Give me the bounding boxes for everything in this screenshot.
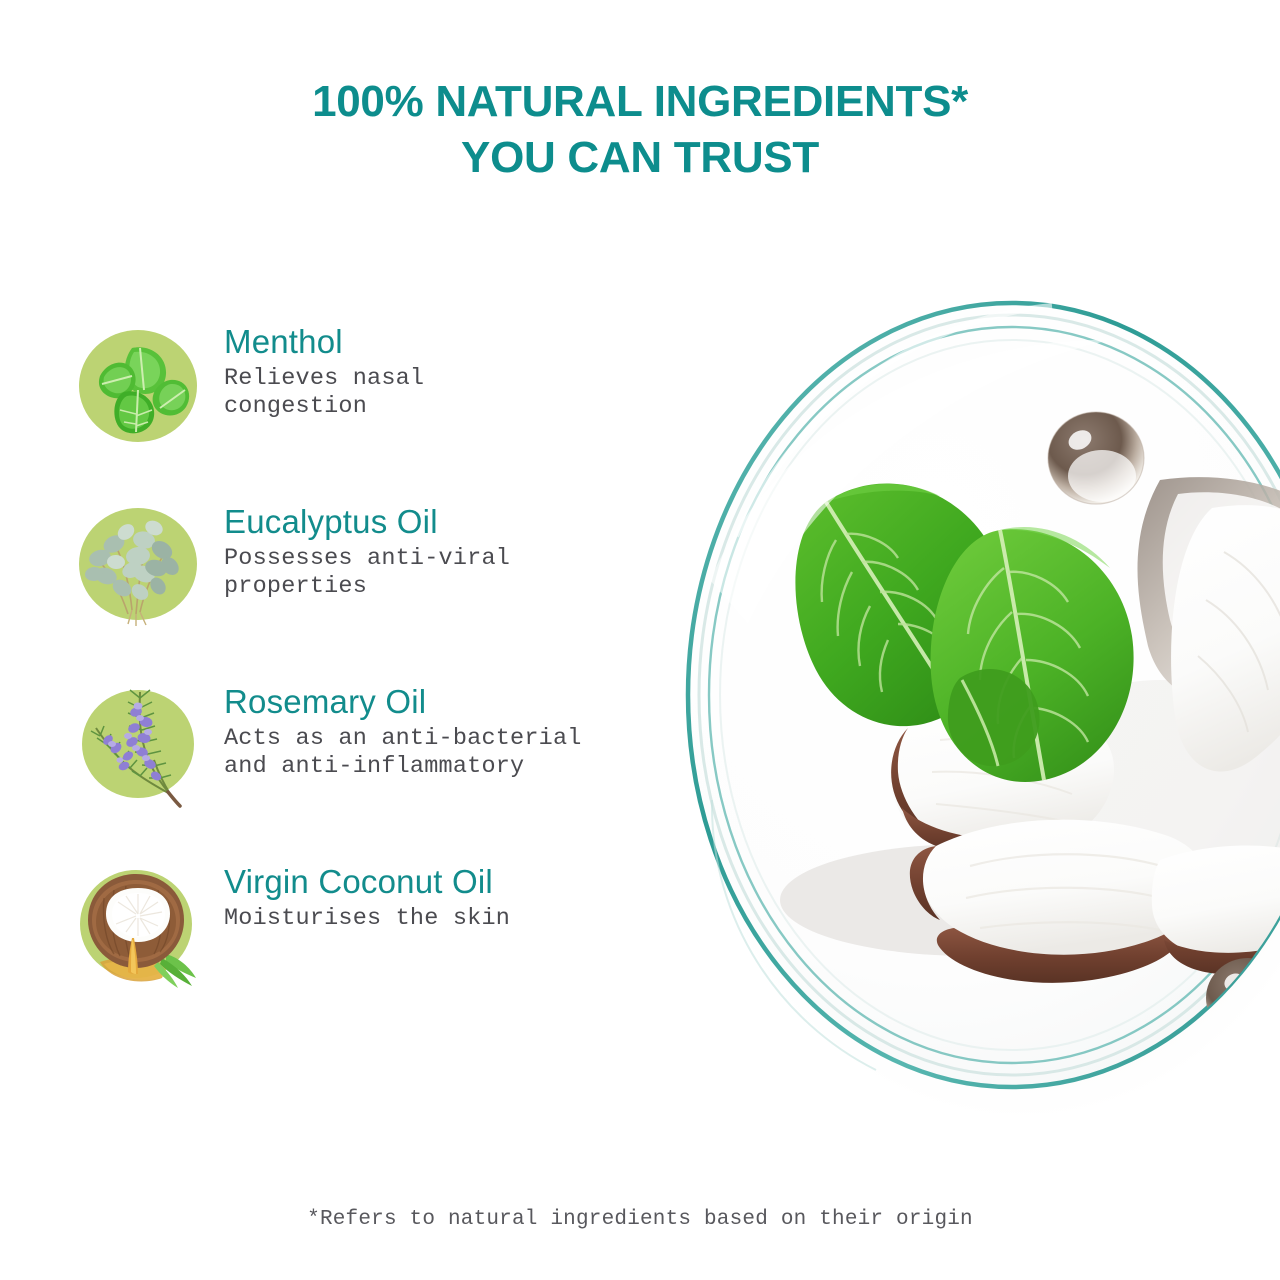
ingredient-title: Virgin Coconut Oil — [224, 864, 674, 901]
ingredient-text-menthol: Menthol Relieves nasal congestion — [224, 324, 674, 420]
ingredient-text-eucalyptus-oil: Eucalyptus Oil Possesses anti-viral prop… — [224, 504, 674, 600]
ingredient-title: Eucalyptus Oil — [224, 504, 674, 541]
ingredient-item-menthol: Menthol Relieves nasal congestion — [0, 318, 680, 498]
headline-line-1: 100% NATURAL INGREDIENTS* — [312, 77, 968, 126]
page-title: 100% NATURAL INGREDIENTS* YOU CAN TRUST — [0, 74, 1280, 187]
ingredient-title: Rosemary Oil — [224, 684, 674, 721]
ingredient-item-virgin-coconut-oil: Virgin Coconut Oil Moisturises the skin — [0, 858, 680, 1038]
ingredient-description: Relieves nasal congestion — [224, 365, 674, 420]
ingredient-item-rosemary-oil: Rosemary Oil Acts as an anti-bacterial a… — [0, 678, 680, 858]
ingredient-text-virgin-coconut-oil: Virgin Coconut Oil Moisturises the skin — [224, 864, 674, 933]
ingredient-list: Menthol Relieves nasal congestion — [0, 318, 680, 1038]
ingredient-text-rosemary-oil: Rosemary Oil Acts as an anti-bacterial a… — [224, 684, 674, 780]
ingredient-description: Moisturises the skin — [224, 905, 674, 933]
ingredient-title: Menthol — [224, 324, 674, 361]
petri-dish-photo — [640, 280, 1280, 1140]
coconut-half-icon — [70, 858, 202, 990]
eucalyptus-branch-icon — [70, 498, 202, 630]
footnote-text: *Refers to natural ingredients based on … — [0, 1208, 1280, 1231]
ingredient-item-eucalyptus-oil: Eucalyptus Oil Possesses anti-viral prop… — [0, 498, 680, 678]
mint-leaves-icon — [70, 318, 202, 450]
rosemary-sprig-icon — [70, 678, 202, 810]
ingredient-description: Possesses anti-viral properties — [224, 545, 674, 600]
infographic-page: 100% NATURAL INGREDIENTS* YOU CAN TRUST — [0, 0, 1280, 1280]
ingredient-description: Acts as an anti-bacterial and anti-infla… — [224, 725, 674, 780]
headline-line-2: YOU CAN TRUST — [0, 130, 1280, 186]
